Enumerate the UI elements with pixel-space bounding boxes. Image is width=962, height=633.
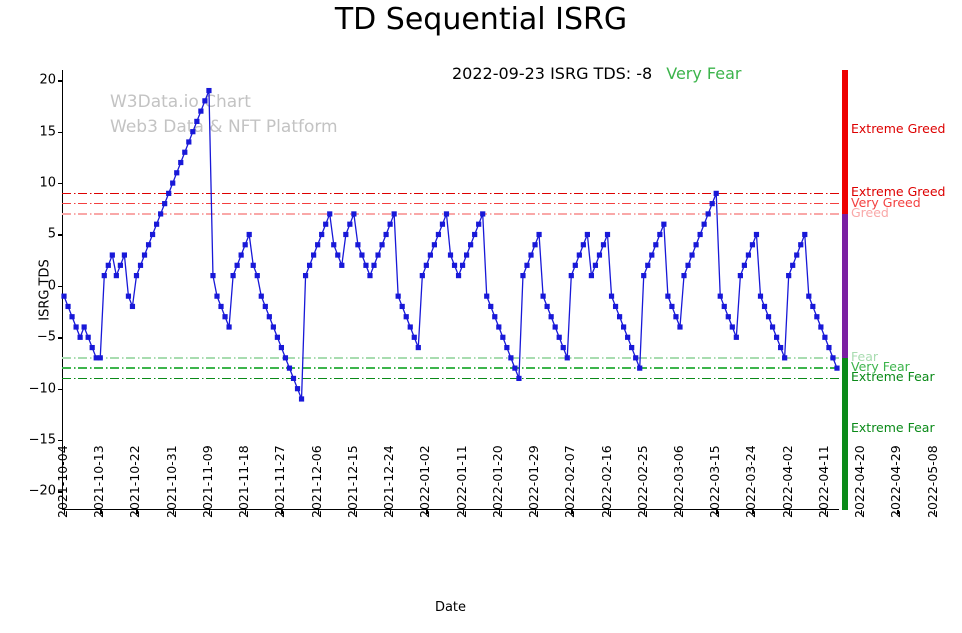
tds-point	[545, 304, 550, 309]
tds-point	[649, 252, 654, 257]
tds-point	[802, 232, 807, 237]
tds-point	[689, 252, 694, 257]
tds-point	[138, 263, 143, 268]
tds-point	[154, 222, 159, 227]
tds-point	[818, 324, 823, 329]
tds-point	[702, 222, 707, 227]
tds-point	[508, 355, 513, 360]
tds-point	[541, 294, 546, 299]
x-tick-label: 2022-04-20	[852, 445, 867, 518]
tds-point	[158, 211, 163, 216]
tds-point	[130, 304, 135, 309]
tds-point	[641, 273, 646, 278]
tds-point	[271, 324, 276, 329]
tds-point	[714, 191, 719, 196]
tds-point	[275, 335, 280, 340]
tds-point	[436, 232, 441, 237]
tds-point	[766, 314, 771, 319]
tds-point	[231, 273, 236, 278]
tds-point	[255, 273, 260, 278]
tds-point	[814, 314, 819, 319]
tds-point	[476, 222, 481, 227]
y-tick-label: 20	[39, 73, 56, 88]
tds-point	[633, 355, 638, 360]
tds-point	[263, 304, 268, 309]
tds-point	[226, 324, 231, 329]
y-tick-label: 5	[48, 227, 56, 242]
tds-point	[323, 222, 328, 227]
tds-point	[82, 324, 87, 329]
tds-point	[440, 222, 445, 227]
tds-point	[186, 139, 191, 144]
tds-point	[400, 304, 405, 309]
tds-point	[629, 345, 634, 350]
tds-point	[283, 355, 288, 360]
tds-point	[432, 242, 437, 247]
tds-point	[178, 160, 183, 165]
y-tick-label: 10	[39, 176, 56, 191]
tds-point	[516, 376, 521, 381]
tds-point	[637, 366, 642, 371]
tds-point	[693, 242, 698, 247]
tds-point	[758, 294, 763, 299]
tds-point	[734, 335, 739, 340]
tds-point	[557, 335, 562, 340]
tds-point	[794, 252, 799, 257]
tds-point	[134, 273, 139, 278]
tds-point	[577, 252, 582, 257]
tds-point	[291, 376, 296, 381]
tds-point	[500, 335, 505, 340]
tds-point	[424, 263, 429, 268]
tds-point	[408, 324, 413, 329]
tds-point	[617, 314, 622, 319]
tds-point	[456, 273, 461, 278]
tds-series	[62, 70, 839, 510]
tds-point	[162, 201, 167, 206]
tds-point	[710, 201, 715, 206]
tds-point	[202, 98, 207, 103]
tds-point	[239, 252, 244, 257]
chart-page: TD Sequential ISRG W3Data.io Chart Web3 …	[0, 0, 962, 633]
tds-point	[621, 324, 626, 329]
tds-point	[742, 263, 747, 268]
tds-point	[295, 386, 300, 391]
tds-point	[110, 252, 115, 257]
threshold-label-greed: Greed	[851, 205, 889, 220]
tds-point	[166, 191, 171, 196]
tds-point	[267, 314, 272, 319]
tds-point	[512, 366, 517, 371]
tds-point	[379, 242, 384, 247]
tds-point	[404, 314, 409, 319]
tds-point	[367, 273, 372, 278]
tds-point	[468, 242, 473, 247]
tds-point	[561, 345, 566, 350]
page-title: TD Sequential ISRG	[0, 2, 962, 37]
tds-point	[706, 211, 711, 216]
tds-point	[363, 263, 368, 268]
tds-point	[536, 232, 541, 237]
y-tick-label: −15	[29, 433, 56, 448]
tds-point	[786, 273, 791, 278]
tds-point	[726, 314, 731, 319]
tds-point	[488, 304, 493, 309]
tds-point	[778, 345, 783, 350]
tds-point	[210, 273, 215, 278]
tds-point	[750, 242, 755, 247]
tds-point	[331, 242, 336, 247]
tds-point	[375, 252, 380, 257]
tds-point	[247, 232, 252, 237]
zone-label-extreme-fear: Extreme Fear	[851, 420, 935, 435]
tds-point	[319, 232, 324, 237]
tds-point	[65, 304, 70, 309]
tds-point	[549, 314, 554, 319]
tds-line	[64, 91, 837, 399]
tds-point	[452, 263, 457, 268]
x-tick-label: 2022-04-29	[888, 445, 903, 518]
tds-point	[718, 294, 723, 299]
tds-point	[388, 222, 393, 227]
tds-point	[182, 150, 187, 155]
tds-point	[235, 263, 240, 268]
tds-point	[122, 252, 127, 257]
tds-point	[102, 273, 107, 278]
tds-point	[665, 294, 670, 299]
tds-point	[553, 324, 558, 329]
tds-point	[150, 232, 155, 237]
tds-point	[420, 273, 425, 278]
tds-point	[492, 314, 497, 319]
tds-point	[444, 211, 449, 216]
tds-point	[798, 242, 803, 247]
x-axis-label: Date	[62, 600, 839, 615]
tds-point	[746, 252, 751, 257]
tds-point	[78, 335, 83, 340]
tds-point	[645, 263, 650, 268]
tds-point	[822, 335, 827, 340]
tds-point	[657, 232, 662, 237]
tds-point	[830, 355, 835, 360]
tds-point	[347, 222, 352, 227]
tds-point	[142, 252, 147, 257]
tds-point	[661, 222, 666, 227]
tds-point	[480, 211, 485, 216]
tds-point	[416, 345, 421, 350]
tds-point	[251, 263, 256, 268]
tds-point	[90, 345, 95, 350]
y-tick-label: −5	[37, 330, 56, 345]
tds-point	[327, 211, 332, 216]
tds-point	[834, 366, 839, 371]
tds-point	[464, 252, 469, 257]
tds-point	[311, 252, 316, 257]
tds-point	[601, 242, 606, 247]
tds-point	[343, 232, 348, 237]
tds-point	[428, 252, 433, 257]
tds-point	[738, 273, 743, 278]
tds-point	[206, 88, 211, 93]
tds-point	[259, 294, 264, 299]
tds-point	[472, 232, 477, 237]
y-tick-label: −20	[29, 484, 56, 499]
tds-point	[625, 335, 630, 340]
tds-point	[69, 314, 74, 319]
tds-point	[589, 273, 594, 278]
tds-point	[730, 324, 735, 329]
tds-point	[118, 263, 123, 268]
tds-point	[810, 304, 815, 309]
tds-point	[573, 263, 578, 268]
tds-point	[532, 242, 537, 247]
tds-point	[287, 366, 292, 371]
tds-point	[826, 345, 831, 350]
tds-point	[774, 335, 779, 340]
tds-point	[504, 345, 509, 350]
tds-point	[243, 242, 248, 247]
tds-point	[73, 324, 78, 329]
tds-point	[669, 304, 674, 309]
tds-point	[218, 304, 223, 309]
y-tick-label: −10	[29, 381, 56, 396]
tds-point	[593, 263, 598, 268]
tds-point	[114, 273, 119, 278]
plot-area: W3Data.io Chart Web3 Data & NFT Platform…	[62, 70, 839, 510]
tds-point	[351, 211, 356, 216]
tds-point	[86, 335, 91, 340]
tds-point	[653, 242, 658, 247]
tds-point	[460, 263, 465, 268]
tds-point	[383, 232, 388, 237]
tds-point	[581, 242, 586, 247]
y-tick-label: 15	[39, 124, 56, 139]
tds-point	[782, 355, 787, 360]
tds-point	[613, 304, 618, 309]
tds-point	[597, 252, 602, 257]
tds-point	[609, 294, 614, 299]
tds-point	[673, 314, 678, 319]
tds-point	[307, 263, 312, 268]
zone-label-extreme-greed: Extreme Greed	[851, 121, 945, 136]
tds-point	[585, 232, 590, 237]
tds-point	[299, 396, 304, 401]
tds-point	[520, 273, 525, 278]
x-tick-label: 2022-05-08	[925, 445, 940, 518]
tds-point	[396, 294, 401, 299]
tds-point	[496, 324, 501, 329]
neutral-zone	[842, 214, 848, 358]
tds-point	[335, 252, 340, 257]
tds-point	[303, 273, 308, 278]
tds-point	[126, 294, 131, 299]
tds-point	[279, 345, 284, 350]
tds-point	[355, 242, 360, 247]
tds-point	[392, 211, 397, 216]
tds-point	[214, 294, 219, 299]
threshold-label-extreme-fear: Extreme Fear	[851, 369, 935, 384]
tds-point	[170, 180, 175, 185]
tds-point	[565, 355, 570, 360]
tds-point	[146, 242, 151, 247]
tds-point	[677, 324, 682, 329]
tds-point	[194, 119, 199, 124]
tds-point	[61, 294, 66, 299]
tds-point	[681, 273, 686, 278]
tds-point	[698, 232, 703, 237]
tds-point	[524, 263, 529, 268]
tds-point	[359, 252, 364, 257]
tds-point	[484, 294, 489, 299]
tds-point	[222, 314, 227, 319]
tds-point	[770, 324, 775, 329]
tds-point	[762, 304, 767, 309]
tds-point	[198, 109, 203, 114]
tds-point	[106, 263, 111, 268]
tds-point	[754, 232, 759, 237]
tds-point	[806, 294, 811, 299]
tds-point	[339, 263, 344, 268]
tds-point	[174, 170, 179, 175]
tds-point	[315, 242, 320, 247]
greed-zone	[842, 70, 848, 214]
tds-point	[448, 252, 453, 257]
y-tick-label: 0	[48, 278, 56, 293]
tds-point	[412, 335, 417, 340]
tds-point	[569, 273, 574, 278]
tds-point	[685, 263, 690, 268]
tds-point	[371, 263, 376, 268]
fear-zone	[842, 358, 848, 510]
tds-point	[605, 232, 610, 237]
tds-point	[722, 304, 727, 309]
tds-point	[190, 129, 195, 134]
tds-point	[528, 252, 533, 257]
tds-point	[98, 355, 103, 360]
tds-point	[790, 263, 795, 268]
